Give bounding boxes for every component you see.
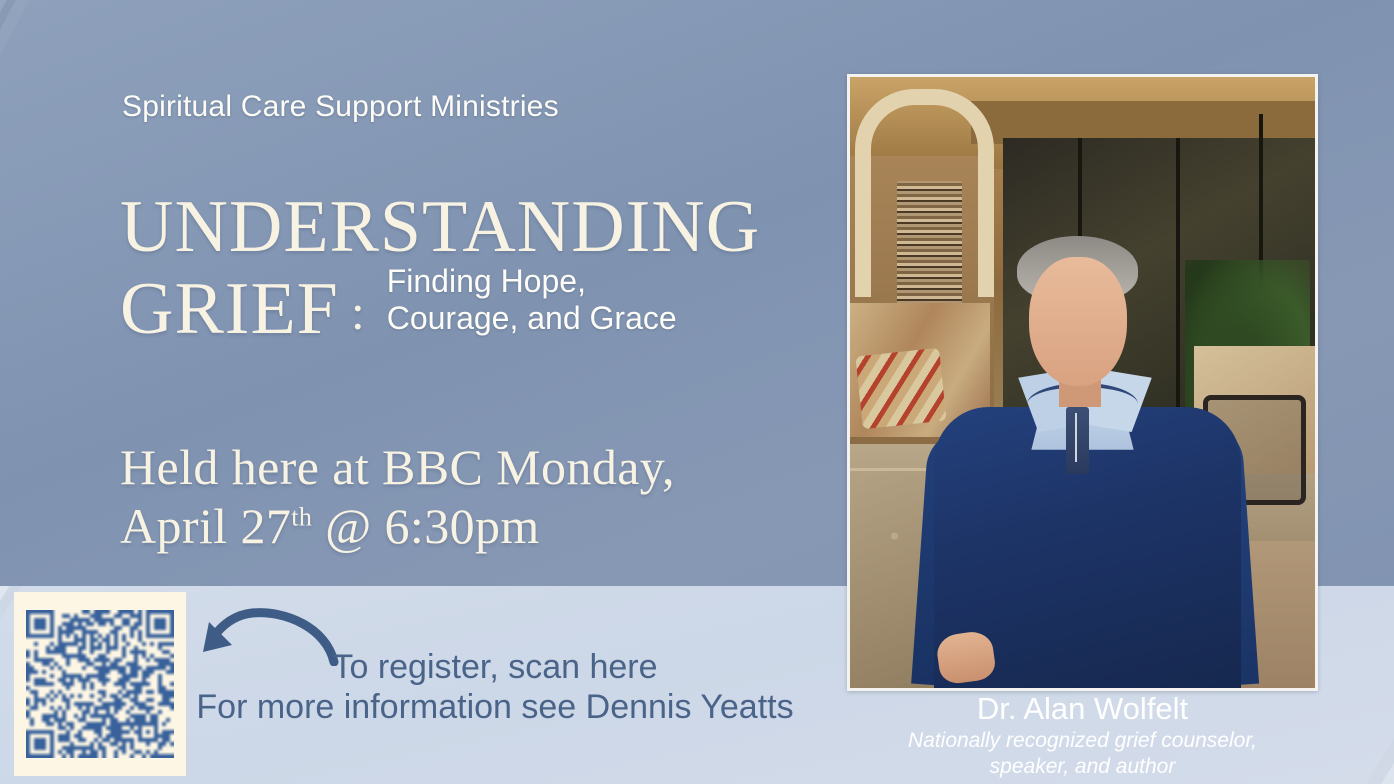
speaker-name: Dr. Alan Wolfelt xyxy=(847,690,1318,727)
title-line-2-row: GRIEF : Finding Hope, Courage, and Grace xyxy=(120,271,860,345)
event-date-ordinal: th xyxy=(291,502,312,531)
event-details: Held here at BBC Monday, April 27th @ 6:… xyxy=(120,438,880,556)
speaker-photo-frame xyxy=(847,74,1318,691)
speaker-figure xyxy=(850,77,1315,688)
event-detail-line-2: April 27th @ 6:30pm xyxy=(120,497,880,556)
title-block: UNDERSTANDING GRIEF : Finding Hope, Cour… xyxy=(120,192,860,345)
qr-code-canvas[interactable] xyxy=(26,610,174,758)
speaker-zip-placket xyxy=(1066,407,1089,474)
organization-name: Spiritual Care Support Ministries xyxy=(122,90,559,124)
register-line-2: For more information see Dennis Yeatts xyxy=(195,688,795,726)
speaker-zipper xyxy=(1075,413,1077,462)
speaker-caption: Dr. Alan Wolfelt Nationally recognized g… xyxy=(847,690,1318,781)
speaker-role: Nationally recognized grief counselor, s… xyxy=(847,728,1318,781)
title-subtitle: Finding Hope, Courage, and Grace xyxy=(387,263,677,337)
title-line-1: UNDERSTANDING xyxy=(120,192,860,263)
register-instructions: To register, scan here For more informat… xyxy=(195,648,795,726)
event-poster: Spiritual Care Support Ministries UNDERS… xyxy=(0,0,1394,784)
title-line-2: GRIEF xyxy=(120,274,339,345)
speaker-face xyxy=(1029,257,1127,385)
event-time: @ 6:30pm xyxy=(312,498,539,554)
title-colon: : xyxy=(351,287,365,337)
speaker-photo xyxy=(850,77,1315,688)
qr-code[interactable] xyxy=(14,592,186,776)
event-date-prefix: April 27 xyxy=(120,498,291,554)
register-line-1: To register, scan here xyxy=(195,648,795,686)
event-detail-line-1: Held here at BBC Monday, xyxy=(120,438,880,497)
